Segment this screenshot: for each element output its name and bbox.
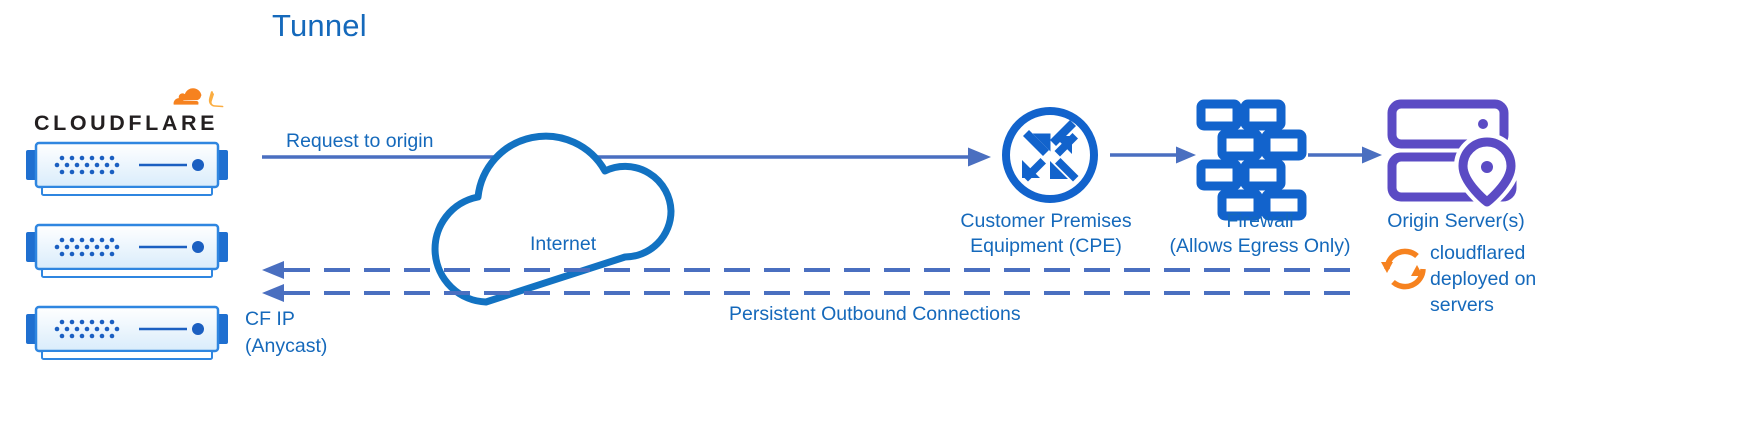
cloud-icon [435,136,671,302]
origin-server-pin-icon [1392,104,1513,204]
sync-arrows-icon [1381,251,1423,286]
persistent-outbound-arrow-upper [262,261,1355,279]
cf-ip-label-line2: (Anycast) [245,333,327,360]
firewall-label-line2: (Allows Egress Only) [1157,234,1363,259]
cpe-label-line2: Equipment (CPE) [946,234,1146,259]
origin-server-label: Origin Server(s) [1376,209,1536,234]
cloudflared-label-line1: cloudflared [1430,240,1550,266]
request-to-origin-label: Request to origin [286,129,433,154]
firewall-to-origin-arrow [1308,147,1382,164]
internet-label: Internet [530,232,596,257]
cpe-to-firewall-arrow [1110,147,1196,164]
cf-ip-label-line1: CF IP [245,306,327,333]
firewall-label-line1: Firewall [1157,209,1363,234]
persistent-outbound-connections-label: Persistent Outbound Connections [729,302,1021,327]
firewall-label: Firewall (Allows Egress Only) [1157,209,1363,259]
cpe-label-line1: Customer Premises [946,209,1146,234]
router-arrows-circle-icon [1006,111,1094,199]
cloudflared-label-line2: deployed on [1430,266,1550,292]
brick-wall-icon [1201,104,1302,216]
cpe-label: Customer Premises Equipment (CPE) [946,209,1146,259]
persistent-outbound-arrow-lower [262,284,1355,302]
diagram-canvas: Tunnel CLOUDFLARE [0,0,1754,422]
cloudflared-label-line3: servers [1430,292,1550,318]
cloudflared-label: cloudflared deployed on servers [1430,240,1550,318]
cf-ip-label: CF IP (Anycast) [245,306,327,360]
origin-server-label-line1: Origin Server(s) [1376,209,1536,234]
